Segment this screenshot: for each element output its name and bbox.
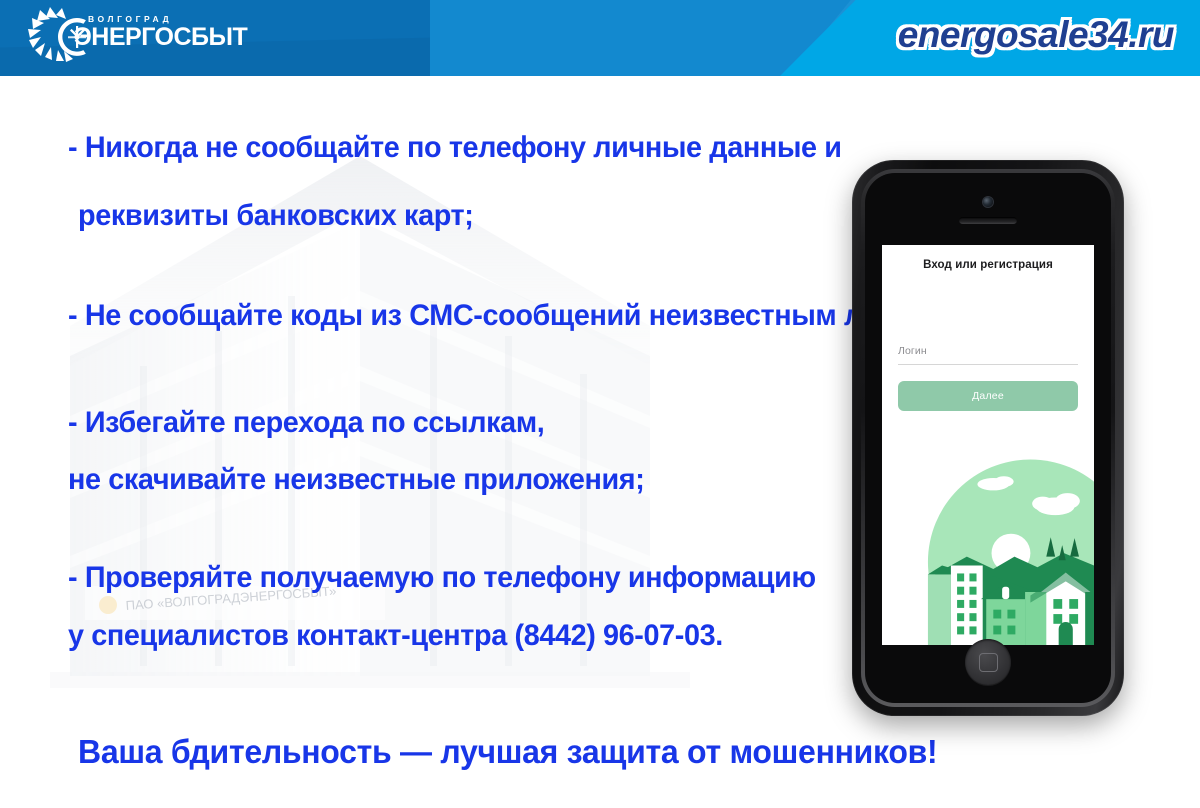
next-button-label: Далее	[972, 390, 1004, 402]
poster-tagline: Ваша бдительность — лучшая защита от мош…	[78, 733, 937, 771]
tip-line-6: - Проверяйте получаемую по телефону инфо…	[68, 556, 816, 600]
company-logo[interactable]: ВОЛГОГРАД ЭНЕРГОСБЫТ	[14, 6, 184, 68]
page-header: ВОЛГОГРАД ЭНЕРГОСБЫТ energosale34.ru	[0, 0, 1200, 76]
home-button[interactable]	[965, 639, 1011, 685]
tip-line-2: реквизиты банковских карт;	[78, 194, 473, 238]
tip-line-3: - Не сообщайте коды из СМС-сообщений неи…	[68, 294, 943, 338]
site-url[interactable]: energosale34.ru	[898, 14, 1174, 56]
phone-face: Вход или регистрация Логин Далее	[865, 173, 1111, 703]
home-button-square-icon	[979, 653, 998, 672]
front-camera-icon	[983, 197, 993, 207]
next-button[interactable]: Далее	[898, 381, 1078, 411]
tip-line-7: у специалистов контакт-центра (8442) 96-…	[68, 614, 723, 658]
green-city-illustration	[882, 433, 1094, 645]
login-input[interactable]: Логин	[898, 345, 1078, 365]
poster-canvas: ВОЛГОГРАД ЭНЕРГОСБЫТ energosale34.ru	[0, 0, 1200, 808]
tip-line-1: - Никогда не сообщайте по телефону личны…	[68, 126, 842, 170]
app-screen-title: Вход или регистрация	[882, 259, 1094, 271]
smartphone-mockup: Вход или регистрация Логин Далее	[852, 160, 1124, 716]
tip-line-5: не скачивайте неизвестные приложения;	[68, 458, 644, 502]
login-placeholder: Логин	[898, 345, 1078, 357]
phone-screen: Вход или регистрация Логин Далее	[882, 245, 1094, 645]
earpiece-speaker-icon	[959, 217, 1017, 224]
logo-company-name: ЭНЕРГОСБЫТ	[74, 25, 247, 50]
tip-line-4: - Избегайте перехода по ссылкам,	[68, 401, 544, 445]
safety-tips-block: - Никогда не сообщайте по телефону личны…	[0, 76, 880, 716]
